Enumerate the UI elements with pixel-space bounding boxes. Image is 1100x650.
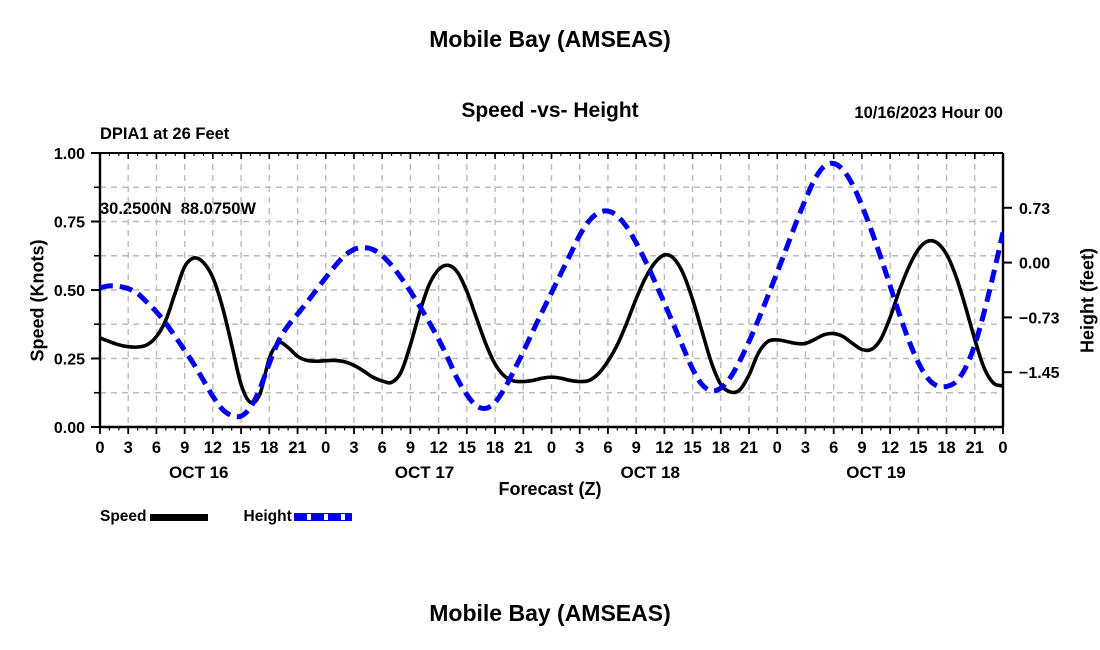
svg-text:9: 9 — [180, 439, 189, 457]
svg-text:21: 21 — [966, 439, 984, 457]
svg-text:−0.73: −0.73 — [1019, 310, 1060, 327]
legend-label-speed: Speed — [100, 508, 147, 526]
svg-text:9: 9 — [857, 439, 866, 457]
svg-text:15: 15 — [232, 439, 250, 457]
svg-text:0: 0 — [998, 439, 1007, 457]
svg-text:3: 3 — [575, 439, 584, 457]
svg-text:0.73: 0.73 — [1019, 201, 1050, 218]
svg-text:21: 21 — [514, 439, 532, 457]
legend-item-height: Height — [244, 508, 352, 526]
tick-labels-layer: 0.000.250.500.751.000.730.00−0.73−1.4503… — [54, 146, 1060, 482]
x-axis-label: Forecast (Z) — [0, 479, 1100, 500]
chart-svg: 0.000.250.500.751.000.730.00−0.73−1.4503… — [0, 0, 1100, 650]
chart-legend: Speed Height — [100, 508, 352, 526]
svg-text:0.00: 0.00 — [54, 420, 85, 437]
svg-text:3: 3 — [124, 439, 133, 457]
svg-text:15: 15 — [909, 439, 927, 457]
y-axis-label-right: Height (feet) — [1078, 201, 1099, 401]
svg-text:21: 21 — [740, 439, 758, 457]
svg-text:0.25: 0.25 — [54, 352, 85, 369]
svg-text:18: 18 — [937, 439, 955, 457]
svg-text:9: 9 — [632, 439, 641, 457]
chart-page: Mobile Bay (AMSEAS) DPIA1 at 26 Feet 30.… — [0, 0, 1100, 650]
svg-text:6: 6 — [603, 439, 612, 457]
legend-label-height: Height — [244, 508, 292, 526]
svg-text:18: 18 — [260, 439, 278, 457]
svg-text:0.00: 0.00 — [1019, 256, 1050, 273]
svg-text:3: 3 — [801, 439, 810, 457]
svg-text:9: 9 — [406, 439, 415, 457]
y-axis-label-left: Speed (Knots) — [28, 201, 49, 401]
svg-text:12: 12 — [655, 439, 673, 457]
svg-text:21: 21 — [288, 439, 306, 457]
svg-text:0.75: 0.75 — [54, 215, 85, 232]
svg-text:15: 15 — [683, 439, 701, 457]
svg-text:15: 15 — [458, 439, 476, 457]
svg-text:0: 0 — [321, 439, 330, 457]
legend-swatch-height-dashed-line-icon — [294, 513, 352, 521]
svg-text:6: 6 — [378, 439, 387, 457]
legend-item-speed: Speed — [100, 508, 208, 526]
svg-text:0: 0 — [773, 439, 782, 457]
svg-text:12: 12 — [429, 439, 447, 457]
svg-text:−1.45: −1.45 — [1019, 365, 1060, 382]
svg-text:0: 0 — [547, 439, 556, 457]
svg-text:18: 18 — [486, 439, 504, 457]
svg-text:12: 12 — [204, 439, 222, 457]
svg-text:0: 0 — [95, 439, 104, 457]
plot-area: 0.000.250.500.751.000.730.00−0.73−1.4503… — [0, 0, 1100, 650]
svg-text:3: 3 — [349, 439, 358, 457]
svg-text:1.00: 1.00 — [54, 146, 85, 163]
legend-swatch-speed-line-icon — [150, 514, 208, 521]
svg-text:0.50: 0.50 — [54, 283, 85, 300]
svg-text:6: 6 — [829, 439, 838, 457]
page-title-bottom: Mobile Bay (AMSEAS) — [0, 600, 1100, 627]
svg-text:12: 12 — [881, 439, 899, 457]
svg-text:6: 6 — [152, 439, 161, 457]
svg-text:18: 18 — [712, 439, 730, 457]
